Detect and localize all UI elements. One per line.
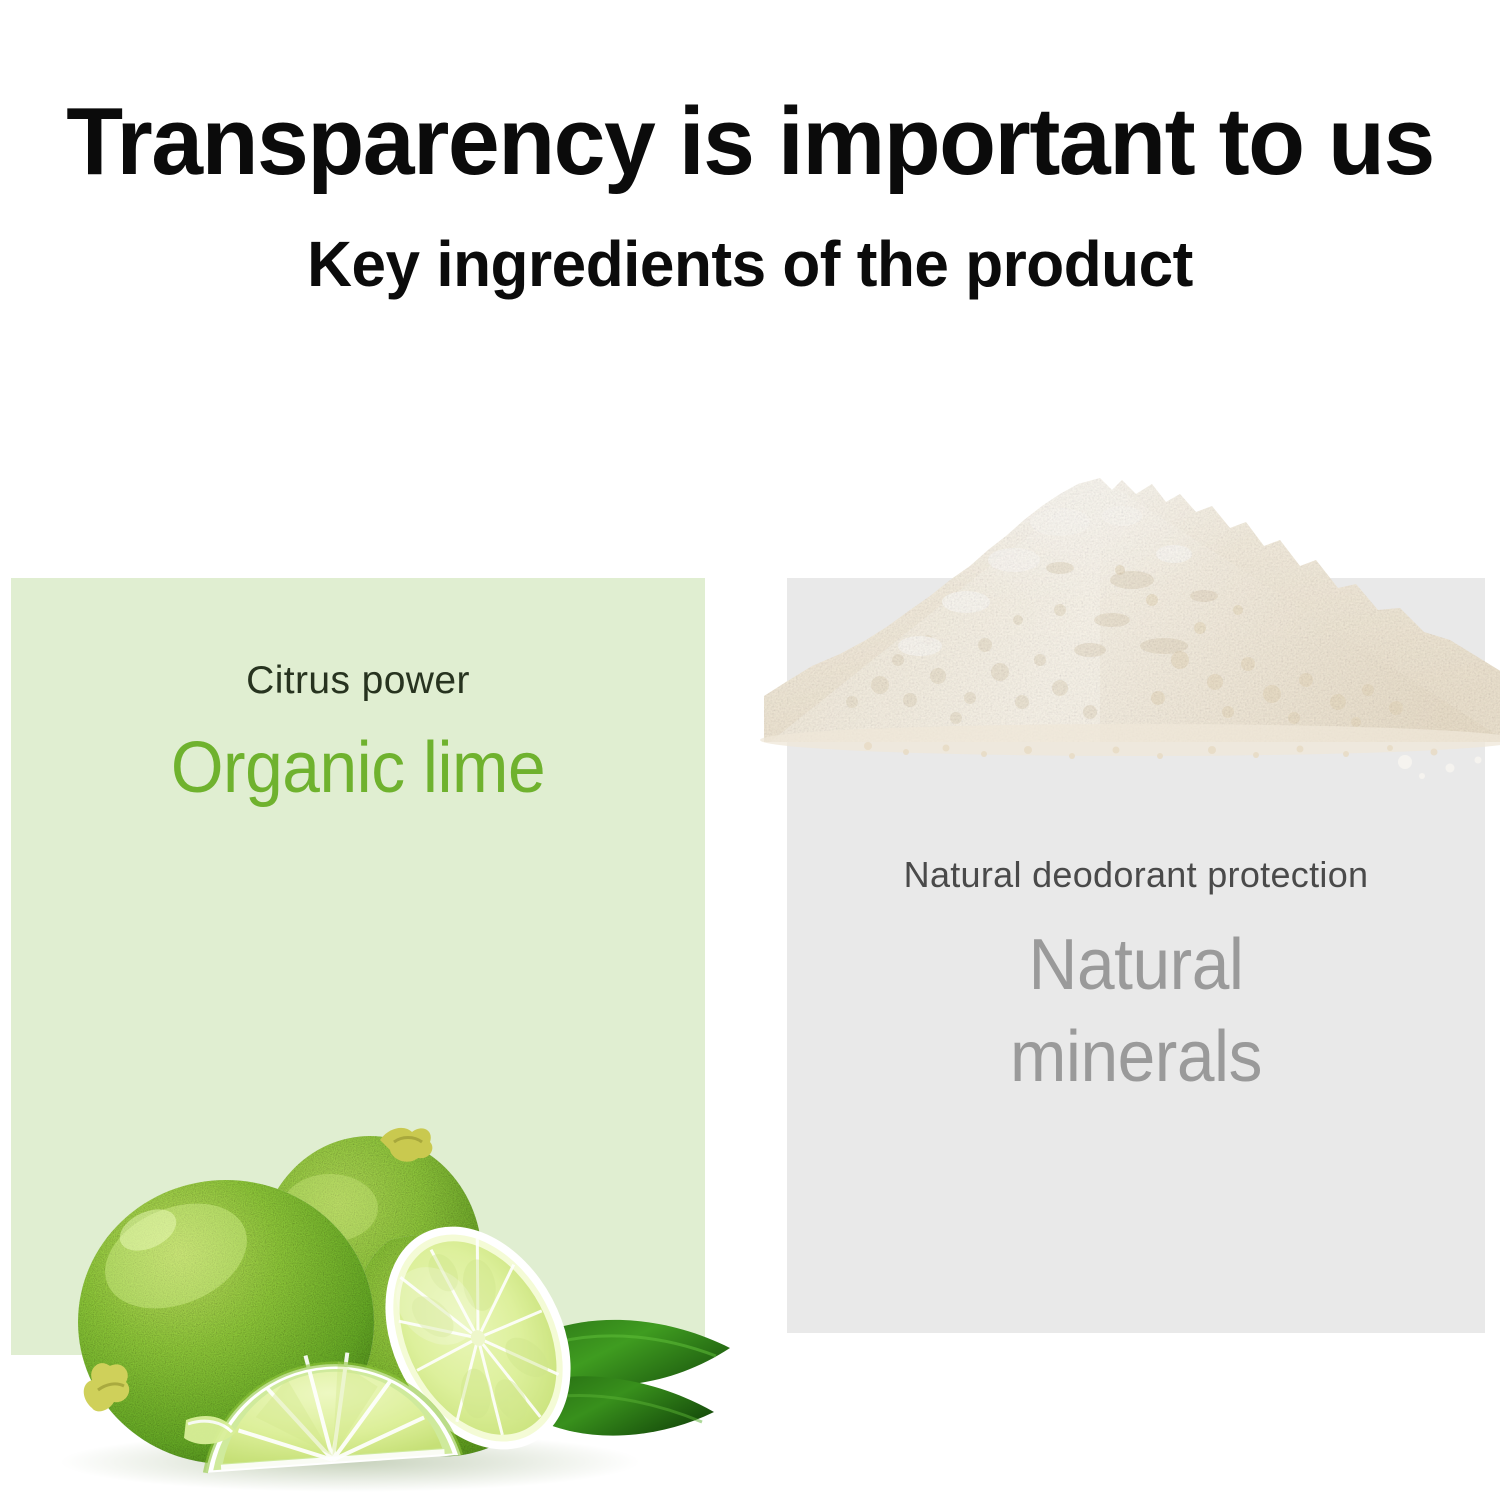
page-subtitle: Key ingredients of the product <box>23 232 1478 296</box>
organic-lime-headline: Organic lime <box>32 727 684 810</box>
heading-block: Transparency is important to us Key ingr… <box>0 0 1500 296</box>
lime-wedge <box>198 1345 461 1473</box>
page-title: Transparency is important to us <box>23 94 1478 190</box>
lime-leaf-front <box>527 1376 714 1435</box>
natural-minerals-headline-line1: Natural <box>808 919 1464 1011</box>
natural-minerals-headline-line2: minerals <box>808 1011 1464 1103</box>
lime-wedge-tip <box>184 1416 236 1444</box>
organic-lime-text-block: Citrus power Organic lime <box>11 660 705 810</box>
natural-minerals-text-block: Natural deodorant protection Natural min… <box>787 855 1485 1103</box>
natural-minerals-eyebrow: Natural deodorant protection <box>787 855 1485 895</box>
natural-minerals-headline: Natural minerals <box>808 919 1464 1103</box>
organic-lime-eyebrow: Citrus power <box>11 660 705 703</box>
ingredients-panel: Transparency is important to us Key ingr… <box>0 0 1500 1500</box>
